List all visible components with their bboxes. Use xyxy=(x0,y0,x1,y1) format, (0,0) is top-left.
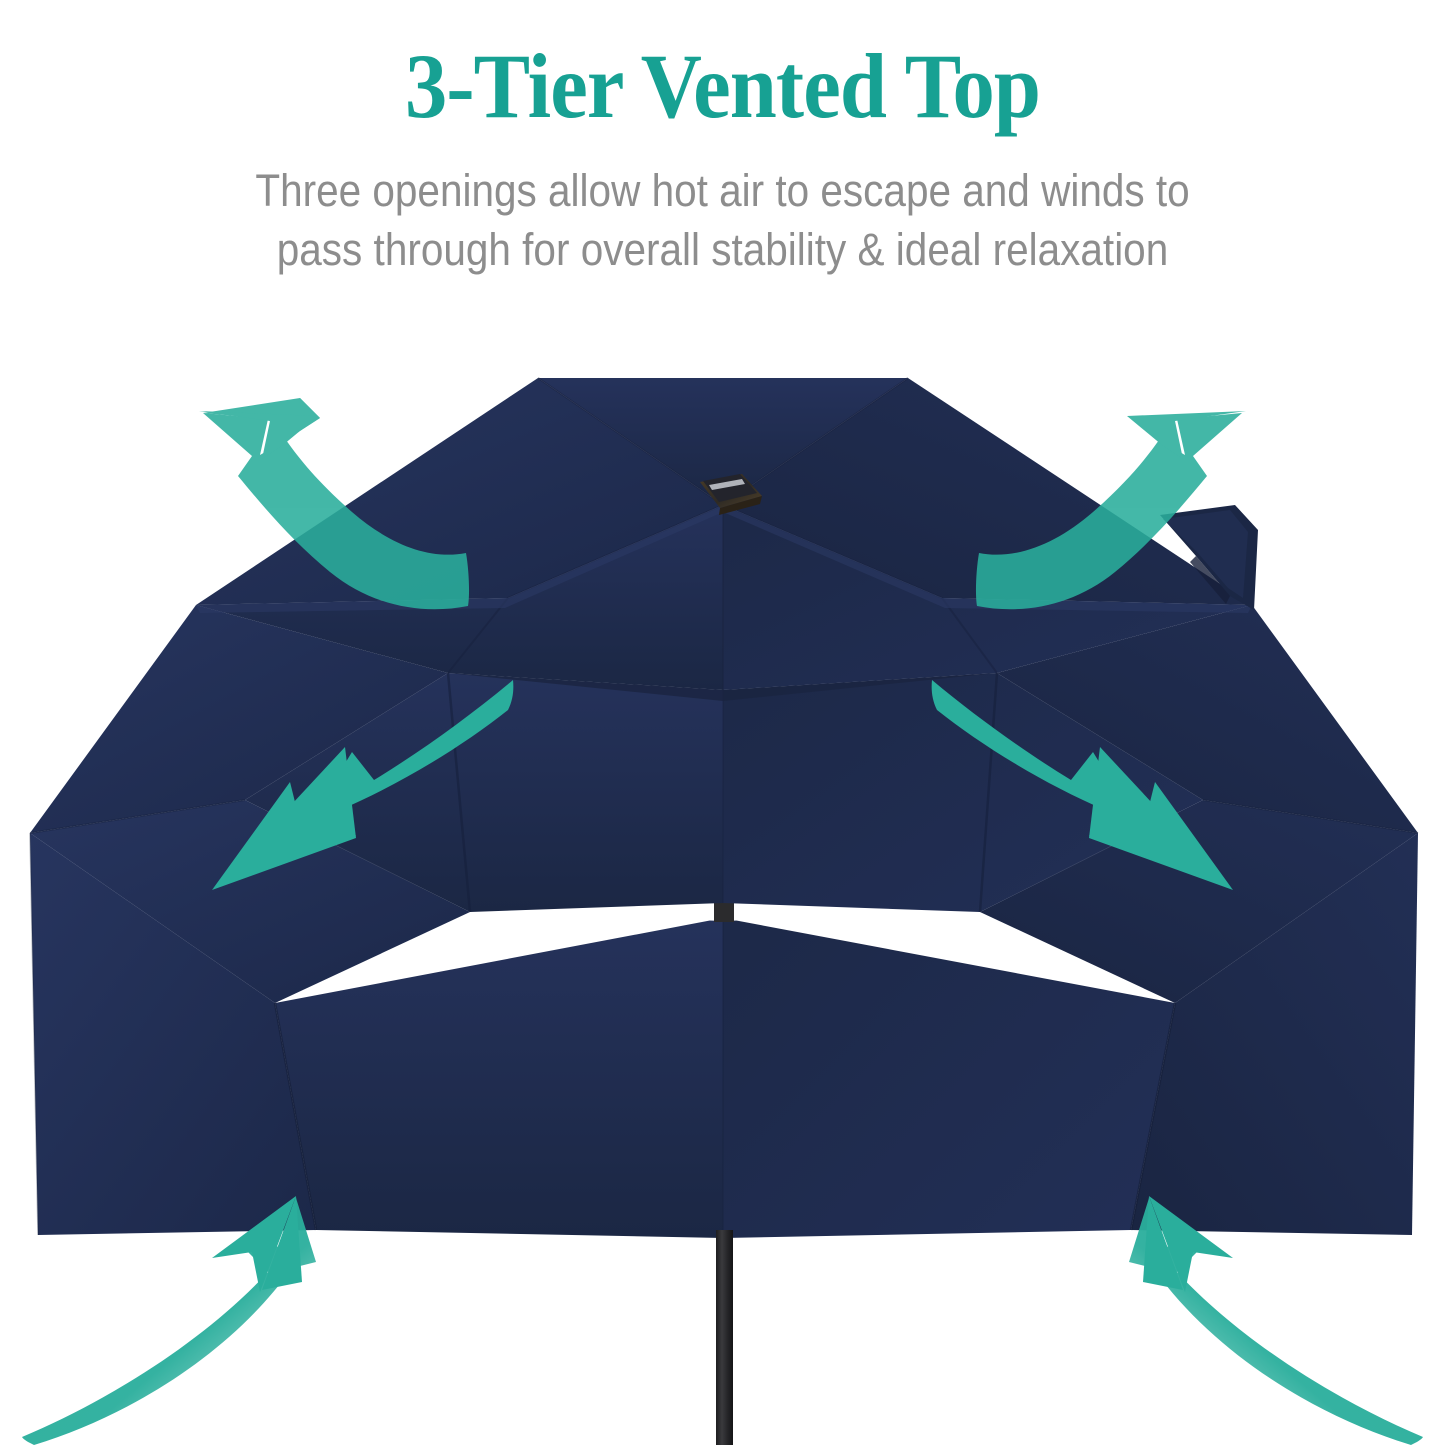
airflow-arrow-top-right xyxy=(976,411,1246,609)
canopy-panel xyxy=(997,605,1418,833)
canopy-panel xyxy=(1131,833,1418,1235)
fabric-tie-strap xyxy=(1160,505,1258,610)
airflow-arrow-mid-right xyxy=(932,680,1233,890)
header-block: 3-Tier Vented Top Three openings allow h… xyxy=(0,0,1445,280)
subtitle-line-2: pass through for overall stability & ide… xyxy=(72,220,1373,280)
page-subtitle: Three openings allow hot air to escape a… xyxy=(72,135,1373,281)
canopy-panel xyxy=(275,918,723,1238)
airflow-arrow-bottom-right xyxy=(1129,1196,1423,1445)
panel-seam xyxy=(980,673,997,912)
panel-seam xyxy=(30,800,245,833)
panel-seam xyxy=(942,598,997,673)
middle-tier xyxy=(30,605,1418,912)
canopy-panel xyxy=(196,378,723,605)
canopy-panel xyxy=(30,833,316,1235)
panel-seam xyxy=(30,833,38,1235)
airflow-arrow-bottom-left xyxy=(22,1196,316,1445)
panel-seam xyxy=(448,673,470,912)
airflow-arrow-top-left xyxy=(199,398,469,609)
panel-seam xyxy=(1131,1003,1175,1230)
bottom-tier xyxy=(30,800,1418,1238)
finial-cap xyxy=(700,474,762,515)
top-tier xyxy=(196,378,1252,690)
canopy-panel xyxy=(30,800,470,1003)
panel-seam xyxy=(1203,800,1418,833)
canopy-panel xyxy=(196,505,723,690)
umbrella-pole-lower xyxy=(716,1230,733,1445)
panel-seam xyxy=(723,505,942,598)
panel-seam xyxy=(723,378,908,505)
vent-opening-lower xyxy=(470,900,980,922)
canopy-panel xyxy=(723,673,1203,912)
canopy-panel xyxy=(30,605,448,833)
panel-seam xyxy=(448,598,508,673)
umbrella-pole xyxy=(716,860,733,1445)
airflow-arrow-mid-left xyxy=(212,680,513,890)
vent-opening-middle xyxy=(448,673,997,701)
canopy-panel xyxy=(980,800,1418,1003)
infographic-canvas: 3-Tier Vented Top Three openings allow h… xyxy=(0,0,1445,1445)
canopy-panel xyxy=(723,378,1252,605)
page-title: 3-Tier Vented Top xyxy=(58,0,1387,135)
canopy-panel xyxy=(723,505,1252,690)
subtitle-line-1: Three openings allow hot air to escape a… xyxy=(72,161,1373,221)
panel-seam xyxy=(538,378,723,505)
vent-opening-upper xyxy=(196,505,1252,613)
canopy-panel xyxy=(245,673,723,912)
panel-seam xyxy=(508,505,723,598)
canopy-panel xyxy=(538,378,908,505)
canopy-panel xyxy=(723,918,1175,1238)
panel-seam xyxy=(275,1003,316,1230)
